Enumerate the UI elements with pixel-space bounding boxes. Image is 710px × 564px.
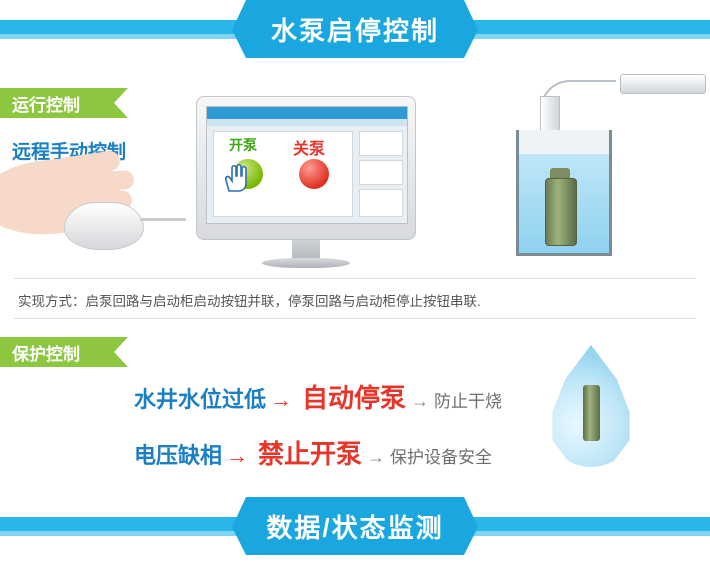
monitor-screen: 开泵 关泵 xyxy=(206,106,408,224)
screen-side-panel-1 xyxy=(359,131,403,156)
screen-header-bar xyxy=(207,107,407,119)
monitor-neck xyxy=(292,240,320,260)
screen-subheader-bar xyxy=(207,119,407,126)
ribbon-run-control: 运行控制 xyxy=(0,88,128,118)
rule-2-action: 禁止开泵 xyxy=(258,434,362,471)
monitor-base xyxy=(262,258,350,268)
water-well-icon xyxy=(500,68,690,258)
screen-side-panel-3 xyxy=(359,189,403,217)
protection-rule-2: 电压缺相 → 禁止开泵 → 保护设备安全 xyxy=(134,434,492,471)
screen-side-panel-2 xyxy=(359,160,403,185)
protection-rule-1: 水井水位过低 → 自动停泵 → 防止干烧 xyxy=(134,378,502,415)
rule-2-arrow2-icon: → xyxy=(367,447,385,468)
rule-2-condition: 电压缺相 xyxy=(134,438,222,470)
divider-bottom xyxy=(14,318,696,319)
water-droplet-icon xyxy=(545,345,637,467)
mouse-icon[interactable] xyxy=(64,202,144,250)
rule-1-result: 防止干烧 xyxy=(434,387,502,412)
droplet-pump-icon xyxy=(583,385,600,441)
hand-icon xyxy=(0,150,150,260)
mouse-cord xyxy=(140,218,186,221)
stop-pump-label: 关泵 xyxy=(293,135,325,159)
rule-1-arrow2-icon: → xyxy=(411,391,429,412)
divider-top xyxy=(14,278,696,279)
monitor-icon: 开泵 关泵 xyxy=(196,96,416,271)
top-banner: 水泵启停控制 xyxy=(0,0,710,58)
start-pump-label: 开泵 xyxy=(229,135,257,155)
top-banner-title: 水泵启停控制 xyxy=(232,0,478,58)
pipe-horizontal xyxy=(620,74,706,94)
ribbon-protection-control: 保护控制 xyxy=(0,337,128,367)
rule-1-arrow-icon: → xyxy=(270,387,292,413)
rule-2-result: 保护设备安全 xyxy=(390,443,492,468)
bottom-banner-title: 数据/状态监测 xyxy=(232,497,478,555)
rule-2-arrow-icon: → xyxy=(226,443,248,469)
hand-cursor-icon xyxy=(223,163,249,193)
rule-1-action: 自动停泵 xyxy=(302,378,406,415)
bottom-banner: 数据/状态监测 xyxy=(0,497,710,555)
implementation-note: 实现方式：启泵回路与启动柜启动按钮并联，停泵回路与启动柜停止按钮串联. xyxy=(18,290,481,310)
stop-pump-button[interactable] xyxy=(299,159,329,189)
ribbon-protection-control-label: 保护控制 xyxy=(12,340,80,365)
rule-1-condition: 水井水位过低 xyxy=(134,382,266,414)
submersible-pump-icon xyxy=(545,178,577,246)
monitor-body: 开泵 关泵 xyxy=(196,96,416,240)
ribbon-run-control-label: 运行控制 xyxy=(12,91,80,116)
